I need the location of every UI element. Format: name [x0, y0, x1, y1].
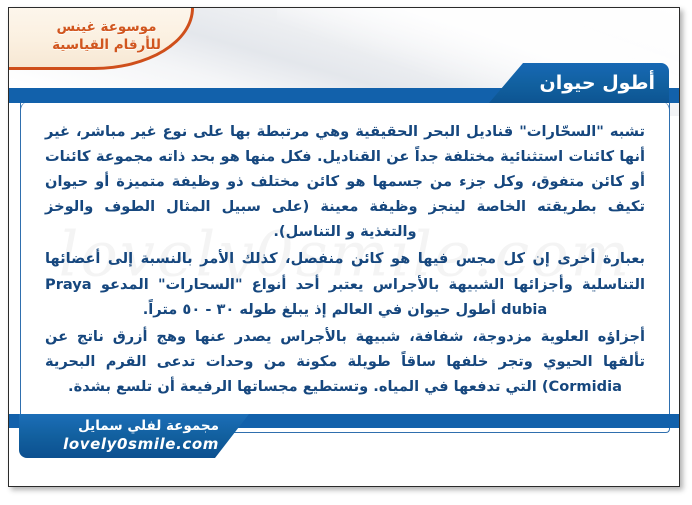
content-sheet: موسوعة غينس للأرقام القياسية أطول حيوان … [8, 7, 680, 487]
footer-banner: مجموعة لفلي سمايل lovely0smile.com [9, 414, 679, 458]
term-cormidia: Cormidia [549, 378, 622, 395]
paragraph-2: بعبارة أخرى إن كل مجس فيها هو كائن منفصل… [45, 246, 645, 321]
badge-line-2: للأرقام القياسية [52, 36, 161, 54]
footer-group-name: مجموعة لفلي سمايل [78, 418, 219, 435]
header-banner: أطول حيوان [9, 63, 679, 103]
badge-line-1: موسوعة غينس [57, 18, 157, 36]
paragraph-3-before: أجزاؤه العلوية مزدوجة، شفافة، شبيهة بالأ… [45, 328, 645, 370]
paragraph-3-after: ) التي تدفعها في المياه. وتستطيع مجساتها… [68, 378, 548, 395]
article-body: تشبه "السحّارات" قناديل البحر الحقيقية و… [45, 119, 645, 399]
guinness-records-badge: موسوعة غينس للأرقام القياسية [8, 7, 194, 70]
paragraph-2-before: بعبارة أخرى إن كل مجس فيها هو كائن منفصل… [45, 250, 645, 292]
paragraph-3: أجزاؤه العلوية مزدوجة، شفافة، شبيهة بالأ… [45, 324, 645, 399]
page-title: أطول حيوان [539, 72, 655, 94]
footer-website-url[interactable]: lovely0smile.com [63, 435, 219, 453]
header-banner-tab: أطول حيوان [489, 63, 669, 103]
infographic-page: موسوعة غينس للأرقام القياسية أطول حيوان … [0, 0, 692, 505]
footer-banner-tab: مجموعة لفلي سمايل lovely0smile.com [19, 414, 249, 458]
paragraph-2-after: أطول حيوان في العالم إذ يبلغ طوله ٣٠ - ٥… [143, 301, 501, 318]
paragraph-1: تشبه "السحّارات" قناديل البحر الحقيقية و… [45, 119, 645, 244]
article-card: lovely0smile.com تشبه "السحّارات" قناديل… [20, 103, 670, 433]
